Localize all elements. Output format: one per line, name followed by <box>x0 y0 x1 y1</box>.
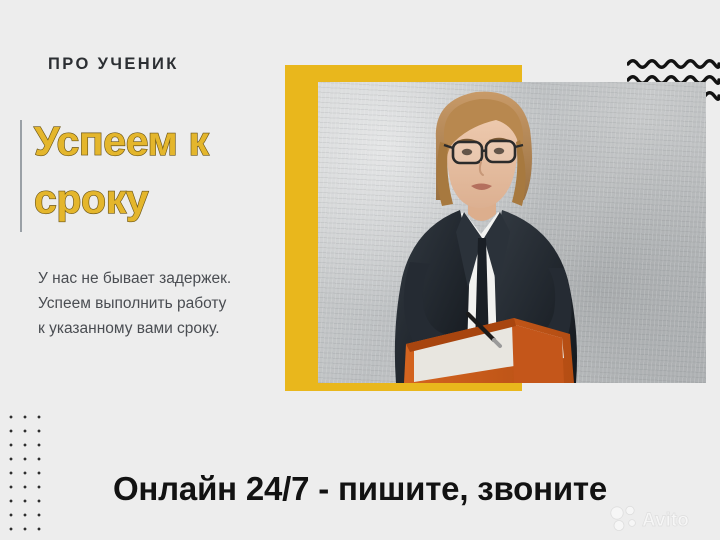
headline-block: Успеем к сроку <box>20 118 270 234</box>
bottom-headline: Онлайн 24/7 - пишите, звоните <box>0 470 720 508</box>
watermark-text: Avito <box>642 510 689 531</box>
hero-photo <box>318 82 706 383</box>
avito-watermark: Avito <box>608 504 712 534</box>
promo-banner: ПРО УЧЕНИК Успеем к сроку У нас не бывае… <box>0 0 720 540</box>
vertical-accent-rule <box>20 120 22 232</box>
eyebrow-label: ПРО УЧЕНИК <box>48 55 179 74</box>
body-paragraph: У нас не бывает задержек. Успеем выполни… <box>38 266 234 341</box>
page-title: Успеем к сроку <box>34 112 266 228</box>
photo-subject <box>318 82 706 383</box>
